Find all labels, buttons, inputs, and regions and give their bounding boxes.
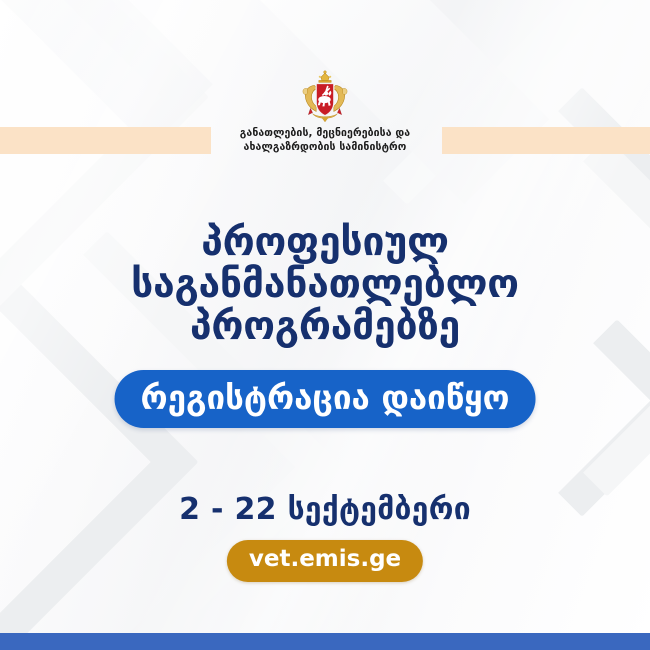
ministry-logo-block: განათლების, მეცნიერებისა და ახალგაზრდობი… <box>0 70 650 155</box>
headline-line-1: პროფესიულ <box>0 222 650 264</box>
headline-line-3: პროგრამებზე <box>0 306 650 348</box>
bottom-accent-bar <box>0 633 650 650</box>
georgia-coat-of-arms-icon <box>298 70 352 124</box>
date-range-label: 2 - 22 სექტემბერი <box>0 492 650 527</box>
ministry-name-label: განათლების, მეცნიერებისა და ახალგაზრდობი… <box>240 127 410 155</box>
poster-canvas: განათლების, მეცნიერებისა და ახალგაზრდობი… <box>0 0 650 650</box>
website-url-badge[interactable]: vet.emis.ge <box>227 540 423 582</box>
headline-line-2: საგანმანათლებლო <box>0 264 650 306</box>
registration-open-badge: რეგისტრაცია დაიწყო <box>115 370 536 428</box>
headline-block: პროფესიულ საგანმანათლებლო პროგრამებზე <box>0 222 650 347</box>
